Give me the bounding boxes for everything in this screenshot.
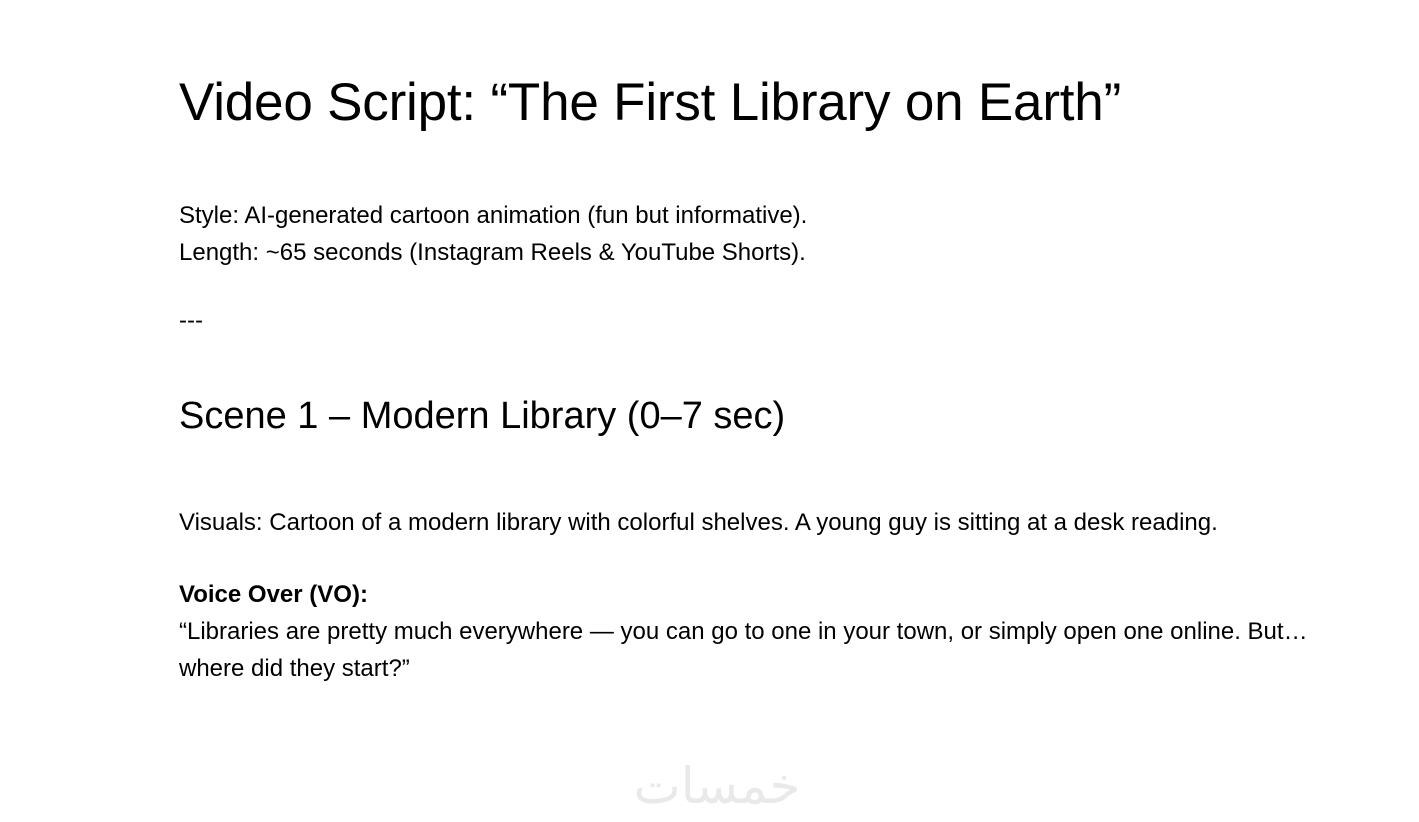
document-page: خمسات Video Script: “The First Library o… [0, 0, 1419, 822]
metadata-length-line: Length: ~65 seconds (Instagram Reels & Y… [179, 234, 1329, 271]
scene-1-visuals: Visuals: Cartoon of a modern library wit… [179, 439, 1314, 541]
khamsat-watermark: خمسات [622, 758, 812, 814]
scene-1-heading: Scene 1 – Modern Library (0–7 sec) [179, 333, 1329, 439]
voice-over-text: “Libraries are pretty much everywhere — … [179, 613, 1329, 687]
document-content: Video Script: “The First Library on Eart… [179, 0, 1329, 687]
voice-over-label: Voice Over (VO): [179, 576, 1329, 613]
metadata-style-line: Style: AI-generated cartoon animation (f… [179, 197, 1329, 234]
page-title: Video Script: “The First Library on Eart… [179, 0, 1329, 144]
scene-1-voice-over: Voice Over (VO): “Libraries are pretty m… [179, 541, 1329, 687]
section-divider: --- [179, 271, 1329, 333]
script-metadata: Style: AI-generated cartoon animation (f… [179, 144, 1329, 271]
